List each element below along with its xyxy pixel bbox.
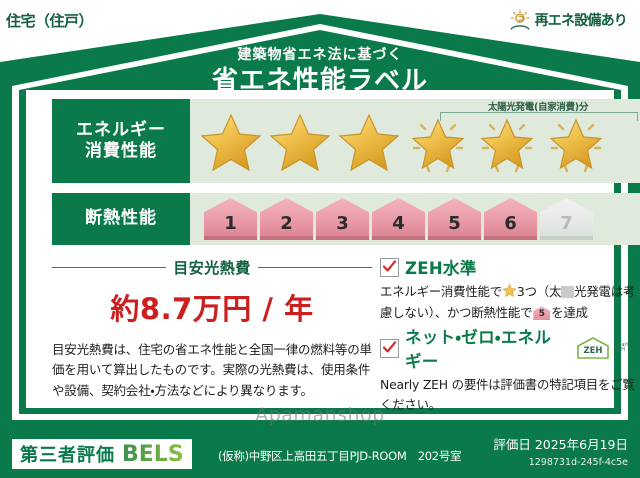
star-icon-solar — [474, 111, 540, 175]
star-icon-solar — [405, 111, 471, 175]
zeh-text-part1: エネルギー消費性能で — [380, 284, 502, 299]
insulation-level-number: 1 — [224, 213, 237, 240]
insulation-level-number: 5 — [448, 213, 461, 240]
zeh-standard-body: エネルギー消費性能で 3つ（太光発電は考慮しない）、かつ断熱性能で 5 を達成 — [380, 282, 640, 322]
utility-cost-value: 約8.7万円 / 年 — [52, 286, 372, 328]
property-address: (仮称)中野区上高田五丁目PJD-ROOM 202号室 — [218, 448, 461, 464]
insulation-level-number: 6 — [504, 213, 517, 240]
insulation-level-number: 7 — [560, 213, 573, 240]
star-icon — [336, 111, 402, 175]
insulation-level-number: 3 — [336, 213, 349, 240]
energy-label-card: 住宅（住戸） 再エネ設備あり 建築物省エネ法に基づく 省エネ性能ラベル — [0, 0, 640, 478]
sun-icon — [508, 9, 532, 31]
energy-star-group — [198, 111, 609, 175]
energy-performance-row: エネルギー 消費性能 太陽光発電(自家消費)分 — [52, 99, 640, 183]
zeh-text-part4: を達成 — [551, 305, 588, 320]
energy-label-line1: エネルギー — [76, 120, 166, 141]
insulation-label-text: 断熱性能 — [85, 208, 157, 229]
net-zero-title: ネット・ゼロ・エネルギー — [405, 324, 568, 372]
insulation-level: 2 — [260, 198, 313, 240]
renewable-equipment-label: 再エネ設備あり — [535, 10, 627, 30]
rule-right — [258, 267, 372, 268]
insulation-performance-label: 断熱性能 — [52, 193, 190, 245]
zeh-text-part2: 3つ（太 — [517, 284, 561, 299]
redacted-character-box — [561, 286, 574, 298]
utility-cost-description: 目安光熱費は、住宅の省エネ性能と全国一律の燃料等の単価を用いて算出したものです。… — [52, 340, 372, 401]
insulation-level: 6 — [484, 198, 537, 240]
insulation-levels-area: 1 2 3 4 5 — [190, 193, 640, 245]
net-zero-title-row: ネット・ゼロ・エネルギー ZEH Nearly ZEH — [380, 324, 640, 372]
insulation-level-inactive: 7 — [540, 198, 593, 240]
checkbox-checked-icon — [380, 258, 399, 277]
energy-stars-area: 太陽光発電(自家消費)分 — [190, 99, 640, 183]
bels-badge: 第三者評価 BELS — [12, 439, 192, 469]
insulation-badge-number: 5 — [533, 306, 550, 320]
insulation-level: 3 — [316, 198, 369, 240]
star-icon-small — [502, 283, 517, 303]
zeh-standard-block: ZEH水準 エネルギー消費性能で 3つ（太光発電は考慮しない）、かつ断熱性能で … — [380, 255, 640, 322]
checkbox-checked-icon — [380, 339, 399, 358]
renewable-equipment-tag: 再エネ設備あり — [504, 5, 634, 35]
utility-cost-heading-text: 目安光熱費 — [173, 257, 251, 278]
document-id: 1298731d-245f-4c5e — [529, 457, 628, 468]
insulation-level-number: 2 — [280, 213, 293, 240]
insulation-level: 1 — [204, 198, 257, 240]
zeh-house-logo-icon: ZEH — [576, 336, 610, 360]
zeh-logo-subtext: Nearly ZEH — [615, 343, 640, 354]
energy-performance-label: エネルギー 消費性能 — [52, 99, 190, 183]
star-icon-solar — [543, 111, 609, 175]
zeh-standard-title: ZEH水準 — [405, 255, 477, 279]
evaluation-date: 評価日 2025年6月19日 — [493, 434, 628, 453]
utility-cost-heading: 目安光熱費 — [52, 257, 372, 278]
net-zero-block: ネット・ゼロ・エネルギー ZEH Nearly ZEH Nearly ZEH の… — [380, 324, 640, 413]
insulation-level: 4 — [372, 198, 425, 240]
dwelling-type-label: 住宅（住戸） — [6, 10, 92, 31]
insulation-level-number: 4 — [392, 213, 405, 240]
insulation-performance-row: 断熱性能 1 2 3 — [52, 193, 640, 245]
insulation-level-badge-small: 5 — [533, 306, 550, 320]
lower-section: 目安光熱費 約8.7万円 / 年 目安光熱費は、住宅の省エネ性能と全国一律の燃料… — [52, 253, 640, 408]
bels-japanese-label: 第三者評価 — [20, 441, 115, 467]
energy-label-line2: 消費性能 — [85, 141, 157, 162]
bels-logo-text: BELS — [122, 442, 184, 467]
star-icon — [198, 111, 264, 175]
insulation-level: 5 — [428, 198, 481, 240]
zeh-standard-title-row: ZEH水準 — [380, 255, 640, 279]
rule-left — [52, 267, 166, 268]
content-panel: エネルギー 消費性能 太陽光発電(自家消費)分 — [26, 90, 614, 408]
zeh-section: ZEH水準 エネルギー消費性能で 3つ（太光発電は考慮しない）、かつ断熱性能で … — [372, 253, 640, 408]
dwelling-type-tag: 住宅（住戸） — [6, 4, 92, 36]
utility-cost-section: 目安光熱費 約8.7万円 / 年 目安光熱費は、住宅の省エネ性能と全国一律の燃料… — [52, 253, 372, 408]
insulation-level-group: 1 2 3 4 5 — [204, 198, 593, 240]
watermark: Apamanshop — [0, 404, 640, 426]
star-icon — [267, 111, 333, 175]
svg-text:ZEH: ZEH — [583, 346, 602, 356]
